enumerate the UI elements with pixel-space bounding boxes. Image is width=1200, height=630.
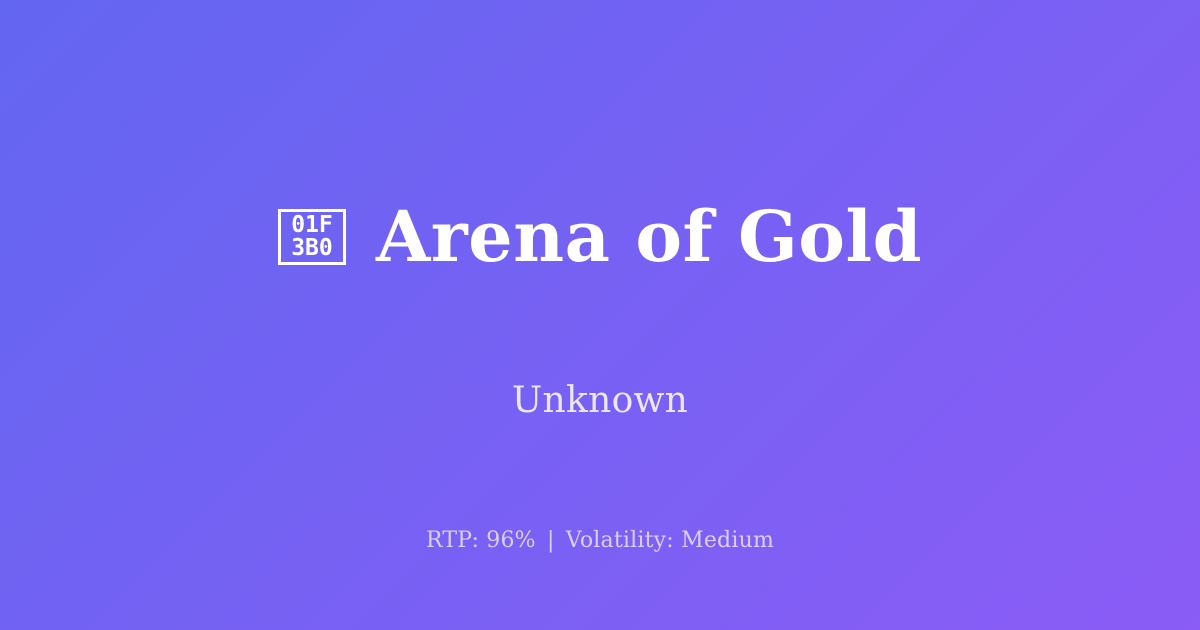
page-title: Arena of Gold: [376, 200, 922, 274]
rtp-value: 96%: [486, 528, 536, 553]
tofu-codepoint-line-1: 01F: [291, 214, 333, 237]
game-meta-footer: RTP: 96% | Volatility: Medium: [0, 528, 1200, 554]
rtp-label: RTP:: [426, 528, 479, 553]
title-row: 01F 3B0 Arena of Gold: [278, 154, 922, 321]
tofu-codepoint-line-2: 3B0: [291, 237, 333, 260]
provider-subtitle: Unknown: [512, 381, 688, 421]
volatility-label: Volatility:: [566, 528, 674, 553]
volatility-value: Medium: [681, 528, 774, 553]
og-share-card: 01F 3B0 Arena of Gold Unknown RTP: 96% |…: [0, 0, 1200, 630]
meta-separator: |: [543, 528, 559, 553]
slot-machine-icon: 01F 3B0: [278, 209, 346, 265]
